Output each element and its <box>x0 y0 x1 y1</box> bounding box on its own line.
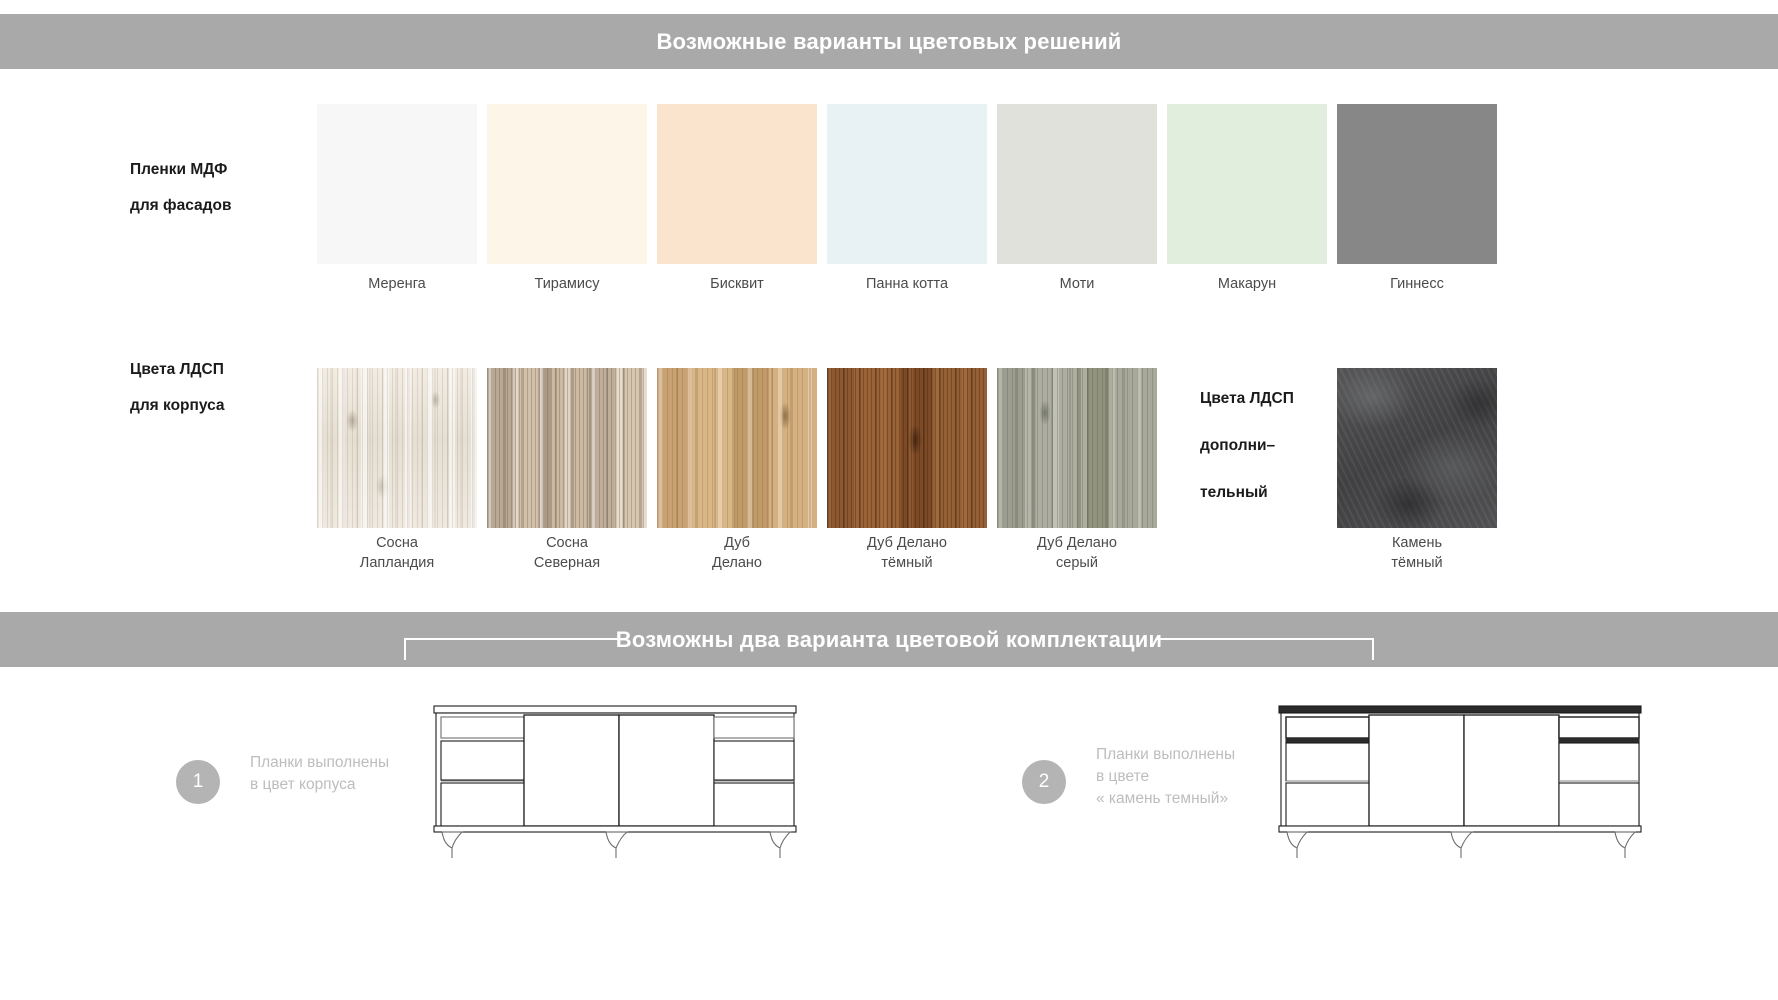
ldsp-section-label: Цвета ЛДСП для корпуса <box>130 352 225 424</box>
ldsp-extra-label-line3: тельный <box>1200 469 1294 516</box>
ldsp-section-label-line1: Цвета ЛДСП <box>130 352 225 388</box>
ldsp-extra-label-line1: Цвета ЛДСП <box>1200 375 1294 422</box>
swatch-oak-delano-gray[interactable] <box>997 368 1157 528</box>
swatch-moti-label: Моти <box>982 274 1172 294</box>
ldsp-extra-label-line2: дополни– <box>1200 422 1294 469</box>
color-options-page: Возможные варианты цветовых решений Плен… <box>0 0 1778 1000</box>
swatch-stone-dark[interactable] <box>1337 368 1497 528</box>
swatch-pine-lapland-label: Сосна Лапландия <box>302 533 492 573</box>
option-1-number: 1 <box>193 771 204 793</box>
swatch-merenga[interactable] <box>317 104 477 264</box>
texture-oak-delano-gray <box>997 368 1157 528</box>
ldsp-extra-label: Цвета ЛДСП дополни– тельный <box>1200 375 1294 516</box>
swatch-biskvit[interactable] <box>657 104 817 264</box>
swatch-stone-dark-label: Камень тёмный <box>1322 533 1512 573</box>
swatch-oak-delano-dark-label: Дуб Делано тёмный <box>812 533 1002 573</box>
swatch-pine-lapland[interactable] <box>317 368 477 528</box>
swatch-ginness[interactable] <box>1337 104 1497 264</box>
swatch-oak-delano-dark[interactable] <box>827 368 987 528</box>
header-banner-variants: Возможны два варианта цветовой комплекта… <box>0 612 1778 667</box>
swatch-tiramisu[interactable] <box>487 104 647 264</box>
texture-pine-lapland <box>317 368 477 528</box>
sideboard-drawing-variant-2 <box>1275 700 1645 860</box>
texture-oak-delano <box>657 368 817 528</box>
swatch-panna-kotta-label: Панна котта <box>812 274 1002 294</box>
swatch-makarun-label: Макарун <box>1152 274 1342 294</box>
bracket-right-decoration <box>1157 638 1374 660</box>
sideboard-drawing-variant-1 <box>430 700 800 860</box>
swatch-moti[interactable] <box>997 104 1157 264</box>
option-1-badge[interactable]: 1 <box>176 760 220 804</box>
mdf-section-label: Пленки МДФ для фасадов <box>130 152 231 224</box>
ldsp-section-label-line2: для корпуса <box>130 388 225 424</box>
mdf-section-label-line1: Пленки МДФ <box>130 152 231 188</box>
swatch-tiramisu-label: Тирамису <box>472 274 662 294</box>
header-banner-colors-title: Возможные варианты цветовых решений <box>656 29 1121 55</box>
swatch-ginness-label: Гиннесс <box>1322 274 1512 294</box>
swatch-biskvit-label: Бисквит <box>642 274 832 294</box>
texture-oak-delano-dark <box>827 368 987 528</box>
option-1-description: Планки выполнены в цвет корпуса <box>250 752 389 796</box>
swatch-panna-kotta[interactable] <box>827 104 987 264</box>
swatch-pine-north[interactable] <box>487 368 647 528</box>
swatch-merenga-label: Меренга <box>302 274 492 294</box>
swatch-pine-north-label: Сосна Северная <box>472 533 662 573</box>
mdf-section-label-line2: для фасадов <box>130 188 231 224</box>
header-banner-variants-title: Возможны два варианта цветовой комплекта… <box>616 627 1162 653</box>
swatch-oak-delano-label: Дуб Делано <box>642 533 832 573</box>
swatch-oak-delano-gray-label: Дуб Делано серый <box>982 533 1172 573</box>
swatch-makarun[interactable] <box>1167 104 1327 264</box>
texture-stone-dark <box>1337 368 1497 528</box>
option-2-number: 2 <box>1039 771 1050 793</box>
option-2-description: Планки выполнены в цвете « камень темный… <box>1096 744 1235 810</box>
bracket-left-decoration <box>404 638 621 660</box>
texture-pine-north <box>487 368 647 528</box>
swatch-oak-delano[interactable] <box>657 368 817 528</box>
header-banner-colors: Возможные варианты цветовых решений <box>0 14 1778 69</box>
option-2-badge[interactable]: 2 <box>1022 760 1066 804</box>
